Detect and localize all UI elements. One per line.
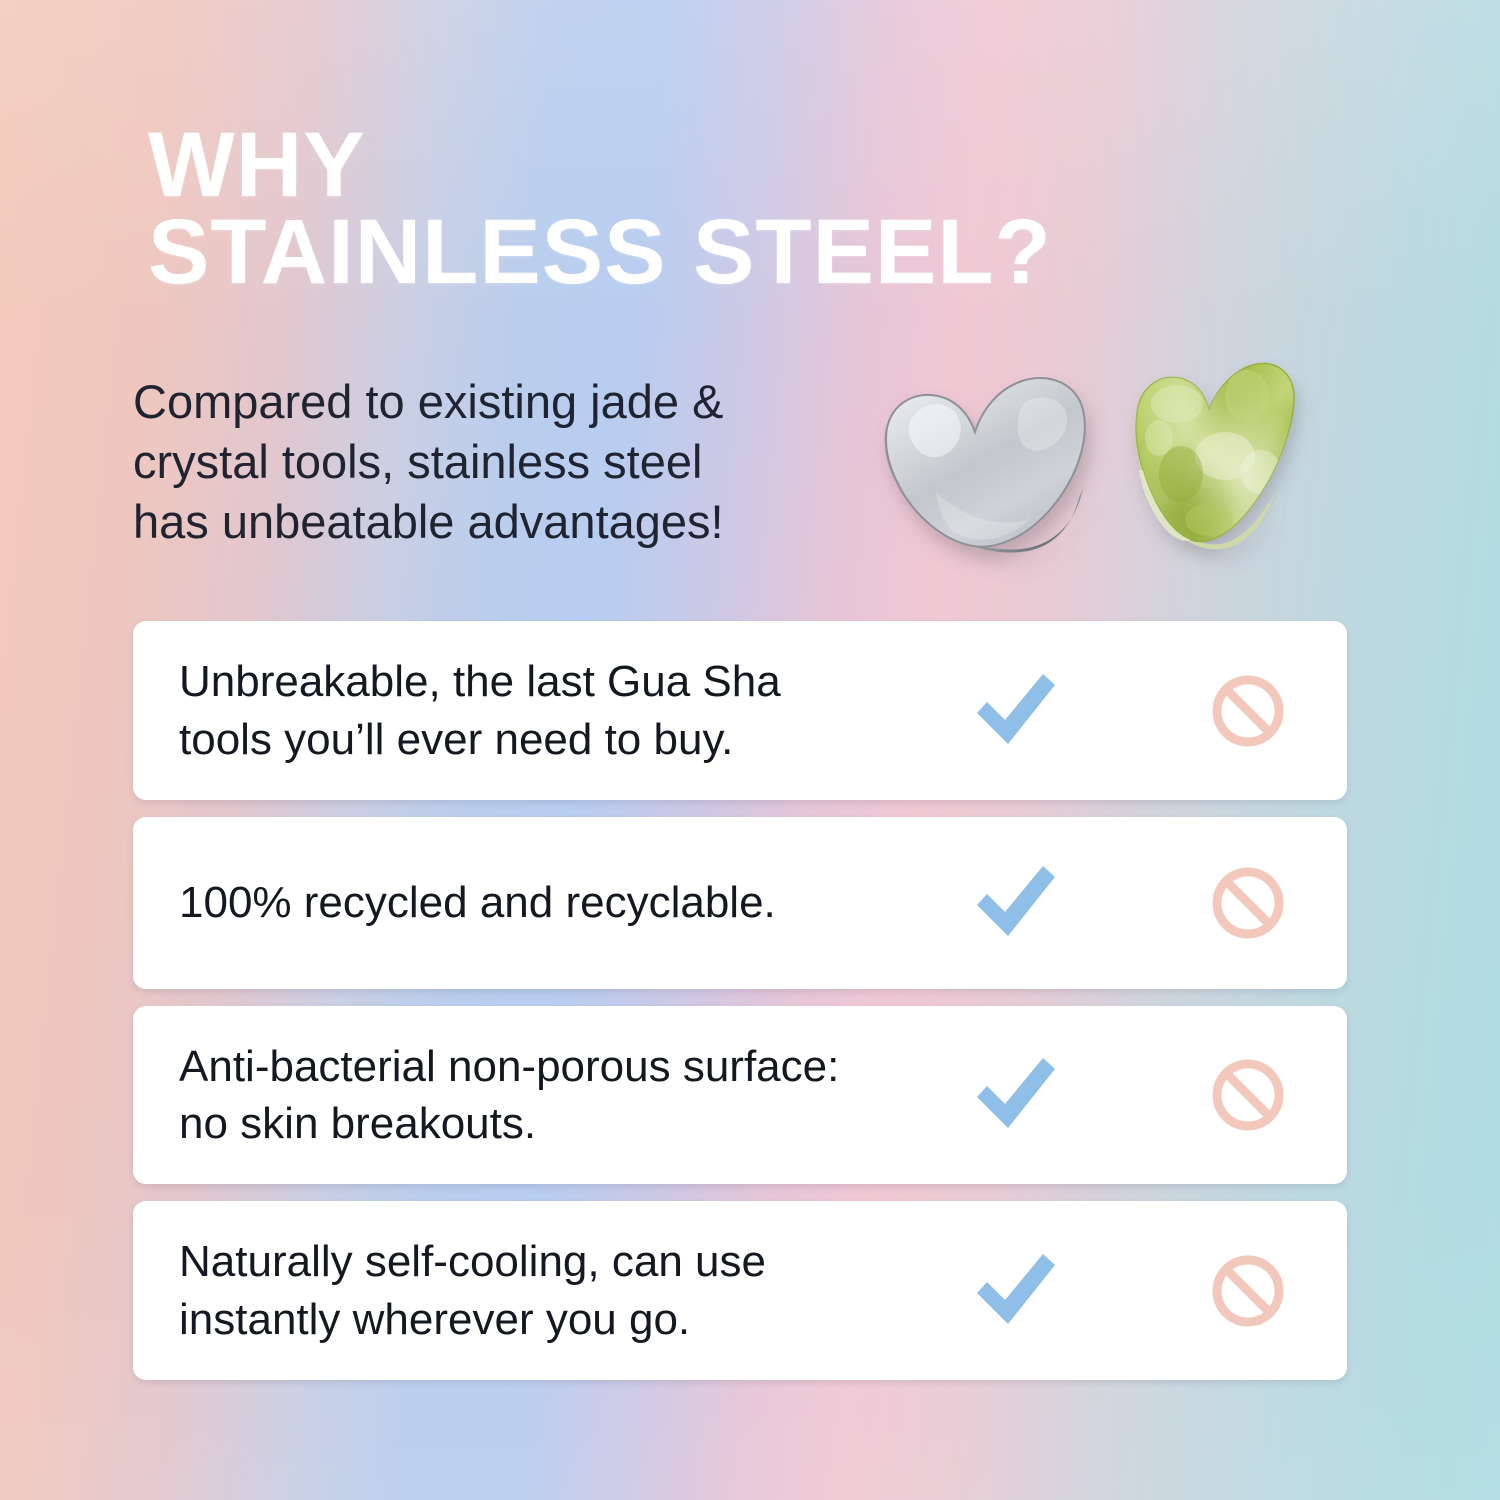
- feature-list: Unbreakable, the last Gua Sha tools you’…: [133, 621, 1347, 1380]
- feature-card-1[interactable]: Unbreakable, the last Gua Sha tools you’…: [133, 621, 1347, 800]
- feature-text-3: Anti-bacterial non-porous surface: no sk…: [179, 1038, 939, 1152]
- infographic-canvas: WHY STAINLESS STEEL? Compared to existin…: [0, 0, 1500, 1500]
- feature-card-4[interactable]: Naturally self-cooling, can use instantl…: [133, 1201, 1347, 1380]
- subtitle-line-3: has unbeatable advantages!: [133, 492, 773, 552]
- subtitle: Compared to existing jade & crystal tool…: [133, 372, 773, 552]
- feature-text-1-line-1: Unbreakable, the last Gua Sha: [179, 653, 939, 710]
- check-icon: [971, 1050, 1061, 1140]
- feature-text-3-line-2: no skin breakouts.: [179, 1095, 939, 1152]
- check-icon: [971, 666, 1061, 756]
- feature-card-2[interactable]: 100% recycled and recyclable.: [133, 817, 1347, 989]
- check-icon: [971, 858, 1061, 948]
- feature-text-3-line-1: Anti-bacterial non-porous surface:: [179, 1038, 939, 1095]
- page-title-line-1: WHY: [148, 122, 1398, 209]
- feature-text-4-line-2: instantly wherever you go.: [179, 1291, 939, 1348]
- subtitle-line-1: Compared to existing jade &: [133, 372, 773, 432]
- page-title-line-2: STAINLESS STEEL?: [148, 209, 1398, 296]
- subtitle-line-2: crystal tools, stainless steel: [133, 432, 773, 492]
- stainless-steel-gua-sha-image: [876, 362, 1106, 577]
- feature-text-1-line-2: tools you’ll ever need to buy.: [179, 711, 939, 768]
- product-image-group: [876, 352, 1306, 592]
- feature-text-4-line-1: Naturally self-cooling, can use: [179, 1233, 939, 1290]
- prohibition-icon: [1209, 864, 1287, 942]
- feature-text-1: Unbreakable, the last Gua Sha tools you’…: [179, 653, 939, 767]
- prohibition-icon: [1209, 672, 1287, 750]
- page-title: WHY STAINLESS STEEL?: [148, 122, 1398, 297]
- jade-gua-sha-image: [1129, 352, 1299, 567]
- check-icon: [971, 1246, 1061, 1336]
- feature-text-2-line-1: 100% recycled and recyclable.: [179, 874, 939, 931]
- prohibition-icon: [1209, 1252, 1287, 1330]
- feature-text-2: 100% recycled and recyclable.: [179, 874, 939, 931]
- feature-card-3[interactable]: Anti-bacterial non-porous surface: no sk…: [133, 1006, 1347, 1184]
- feature-text-4: Naturally self-cooling, can use instantl…: [179, 1233, 939, 1347]
- prohibition-icon: [1209, 1056, 1287, 1134]
